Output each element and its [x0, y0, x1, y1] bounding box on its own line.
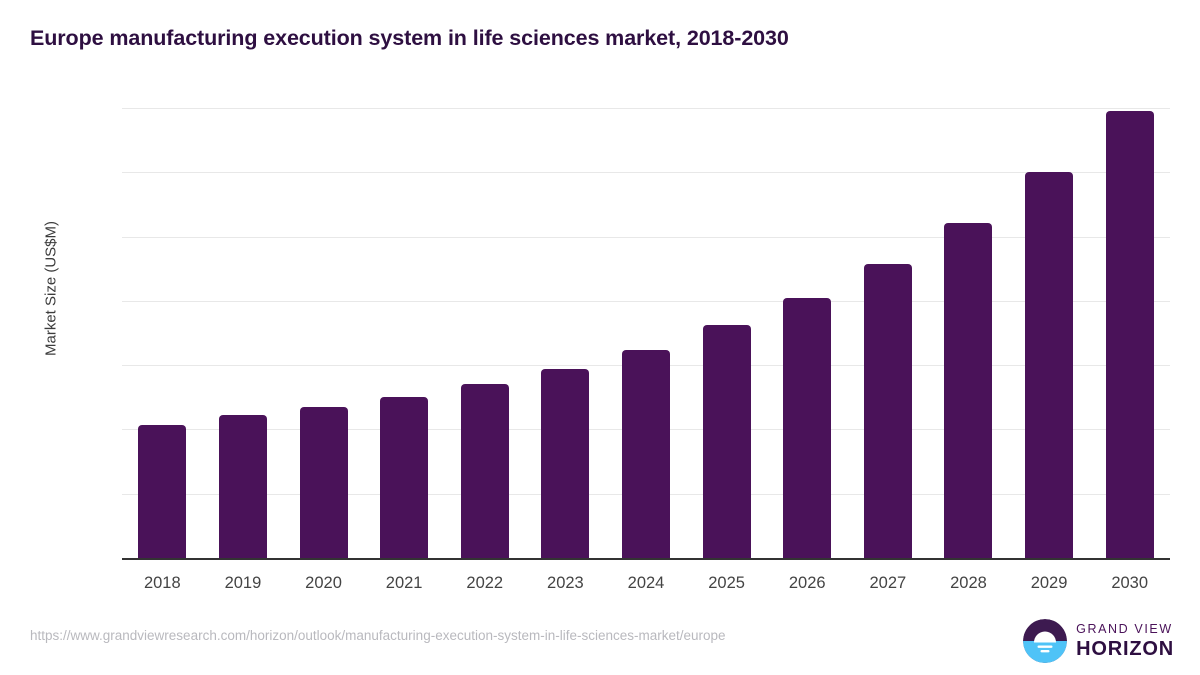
horizon-logo-icon	[1023, 619, 1067, 663]
bar-2028[interactable]	[944, 223, 992, 558]
bar-2030[interactable]	[1106, 111, 1154, 558]
bar-2019[interactable]	[219, 415, 267, 558]
bar-2020[interactable]	[300, 407, 348, 558]
gridline	[122, 301, 1170, 302]
logo-text-grand-view: GRAND VIEW	[1076, 623, 1174, 636]
chart-container: Market Size (US$M) 025050075010001250150…	[0, 0, 1200, 675]
bar-2018[interactable]	[138, 425, 186, 558]
bar-2022[interactable]	[461, 384, 509, 558]
gridline	[122, 172, 1170, 173]
plot-area: 02505007501000125015001750 2018201920202…	[122, 108, 1170, 558]
bar-2023[interactable]	[541, 369, 589, 559]
bar-2021[interactable]	[380, 397, 428, 558]
bar-2029[interactable]	[1025, 172, 1073, 558]
x-axis-tick-label-2018: 2018	[117, 574, 207, 593]
chart-page: Europe manufacturing execution system in…	[0, 0, 1200, 675]
brand-logo[interactable]: GRAND VIEW HORIZON	[1023, 618, 1174, 664]
x-axis-tick-label-2022: 2022	[440, 574, 530, 593]
bar-2025[interactable]	[703, 325, 751, 558]
bar-2026[interactable]	[783, 298, 831, 558]
x-axis-tick-label-2027: 2027	[843, 574, 933, 593]
x-axis-tick-label-2025: 2025	[682, 574, 772, 593]
x-axis-tick-label-2026: 2026	[762, 574, 852, 593]
bar-2024[interactable]	[622, 350, 670, 558]
x-axis-tick-label-2024: 2024	[601, 574, 691, 593]
source-url[interactable]: https://www.grandviewresearch.com/horizo…	[30, 628, 726, 643]
logo-text-horizon: HORIZON	[1076, 639, 1174, 659]
x-axis-tick-label-2019: 2019	[198, 574, 288, 593]
gridline	[122, 237, 1170, 238]
x-axis-tick-label-2030: 2030	[1085, 574, 1175, 593]
logo-wordmark: GRAND VIEW HORIZON	[1076, 623, 1174, 660]
bar-2027[interactable]	[864, 264, 912, 558]
x-axis-tick-label-2029: 2029	[1004, 574, 1094, 593]
x-axis-line	[122, 558, 1170, 560]
x-axis-tick-label-2020: 2020	[279, 574, 369, 593]
gridline	[122, 108, 1170, 109]
x-axis-tick-label-2021: 2021	[359, 574, 449, 593]
x-axis-tick-label-2028: 2028	[923, 574, 1013, 593]
x-axis-tick-label-2023: 2023	[520, 574, 610, 593]
y-axis-title: Market Size (US$M)	[43, 194, 60, 384]
